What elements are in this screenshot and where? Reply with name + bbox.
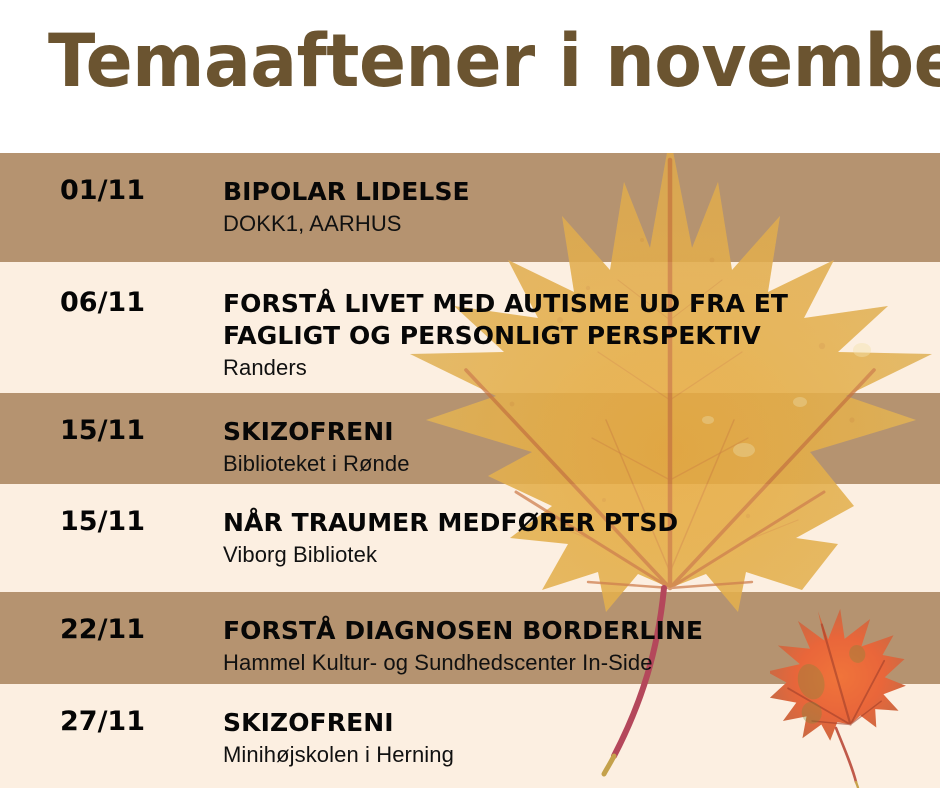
event-row[interactable]: 27/11SKIZOFRENIMinihøjskolen i Herning [0, 684, 940, 788]
event-date: 01/11 [60, 176, 210, 206]
event-details: NÅR TRAUMER MEDFØRER PTSDViborg Bibliote… [223, 507, 930, 568]
event-heading: SKIZOFRENI [223, 416, 930, 448]
event-row[interactable]: 15/11NÅR TRAUMER MEDFØRER PTSDViborg Bib… [0, 484, 940, 592]
event-date: 15/11 [60, 416, 210, 446]
event-venue: Minihøjskolen i Herning [223, 741, 930, 768]
event-venue: Randers [223, 354, 930, 381]
event-details: BIPOLAR LIDELSEDOKK1, AARHUS [223, 176, 930, 237]
event-venue: Hammel Kultur- og Sundhedscenter In-Side [223, 649, 930, 676]
title-bar: Temaaftener i november [0, 0, 940, 153]
event-row[interactable]: 22/11FORSTÅ DIAGNOSEN BORDERLINEHammel K… [0, 592, 940, 684]
event-heading: SKIZOFRENI [223, 707, 930, 739]
page-title: Temaaftener i november [48, 22, 940, 102]
event-row[interactable]: 06/11FORSTÅ LIVET MED AUTISME UD FRA ET … [0, 262, 940, 393]
event-details: FORSTÅ DIAGNOSEN BORDERLINEHammel Kultur… [223, 615, 930, 676]
event-row[interactable]: 15/11SKIZOFRENIBiblioteket i Rønde [0, 393, 940, 484]
poster-canvas: Temaaftener i november 01/11BIPOLAR LIDE… [0, 0, 940, 788]
event-list: 01/11BIPOLAR LIDELSEDOKK1, AARHUS06/11FO… [0, 153, 940, 788]
event-heading: FORSTÅ LIVET MED AUTISME UD FRA ET FAGLI… [223, 288, 823, 352]
event-row[interactable]: 01/11BIPOLAR LIDELSEDOKK1, AARHUS [0, 153, 940, 262]
event-heading: BIPOLAR LIDELSE [223, 176, 930, 208]
event-venue: DOKK1, AARHUS [223, 210, 930, 237]
event-heading: FORSTÅ DIAGNOSEN BORDERLINE [223, 615, 930, 647]
event-venue: Biblioteket i Rønde [223, 450, 930, 477]
event-heading: NÅR TRAUMER MEDFØRER PTSD [223, 507, 930, 539]
event-date: 27/11 [60, 707, 210, 737]
event-details: FORSTÅ LIVET MED AUTISME UD FRA ET FAGLI… [223, 288, 930, 381]
event-date: 15/11 [60, 507, 210, 537]
event-date: 06/11 [60, 288, 210, 318]
event-details: SKIZOFRENIMinihøjskolen i Herning [223, 707, 930, 768]
event-details: SKIZOFRENIBiblioteket i Rønde [223, 416, 930, 477]
event-date: 22/11 [60, 615, 210, 645]
event-venue: Viborg Bibliotek [223, 541, 930, 568]
